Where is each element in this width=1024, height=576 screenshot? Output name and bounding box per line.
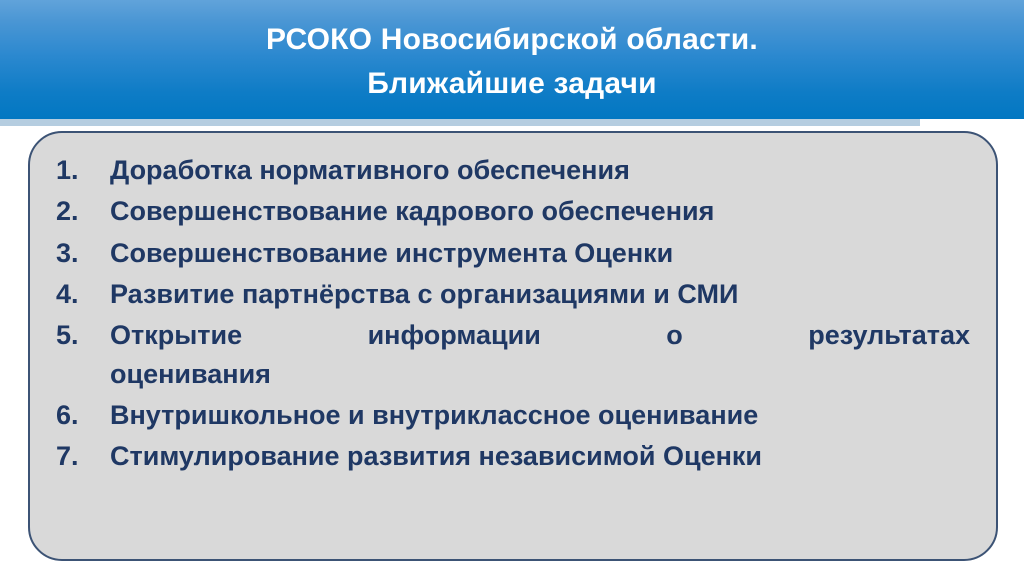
- list-item: 7. Стимулирование развития независимой О…: [56, 437, 970, 475]
- header-accent-bar-right-gap: [920, 119, 1024, 126]
- page-title-line-1: РСОКО Новосибирской области.: [266, 18, 758, 62]
- slide-header: РСОКО Новосибирской области. Ближайшие з…: [0, 0, 1024, 119]
- list-item-number: 4.: [56, 275, 110, 313]
- header-accent-bar: [0, 119, 920, 126]
- list-item-label: Стимулирование развития независимой Оцен…: [110, 437, 970, 475]
- list-item-number: 1.: [56, 151, 110, 189]
- list-item: 4. Развитие партнёрства с организациями …: [56, 275, 970, 313]
- list-item-label: Открытие информации о результатах оценив…: [110, 316, 970, 393]
- list-item-label: Совершенствование инструмента Оценки: [110, 234, 970, 272]
- list-item: 2. Совершенствование кадрового обеспечен…: [56, 192, 970, 230]
- task-list: 1. Доработка нормативного обеспечения 2.…: [56, 151, 970, 476]
- list-item: 5. Открытие информации о результатах оце…: [56, 316, 970, 393]
- list-item: 6. Внутришкольное и внутриклассное оцени…: [56, 396, 970, 434]
- list-item-label-line-2: оценивания: [110, 355, 970, 393]
- list-item-label: Внутришкольное и внутриклассное оцениван…: [110, 396, 970, 434]
- list-item: 1. Доработка нормативного обеспечения: [56, 151, 970, 189]
- list-item-label: Развитие партнёрства с организациями и С…: [110, 275, 970, 313]
- list-item-label-line-1: Открытие информации о результатах: [110, 316, 970, 354]
- list-item-label: Совершенствование кадрового обеспечения: [110, 192, 970, 230]
- list-item-number: 7.: [56, 437, 110, 475]
- page-title-line-2: Ближайшие задачи: [367, 62, 657, 106]
- list-item-number: 6.: [56, 396, 110, 434]
- list-item-number: 2.: [56, 192, 110, 230]
- list-item-label: Доработка нормативного обеспечения: [110, 151, 970, 189]
- list-item-number: 5.: [56, 316, 110, 354]
- content-panel: 1. Доработка нормативного обеспечения 2.…: [28, 131, 998, 561]
- list-item-number: 3.: [56, 234, 110, 272]
- list-item: 3. Совершенствование инструмента Оценки: [56, 234, 970, 272]
